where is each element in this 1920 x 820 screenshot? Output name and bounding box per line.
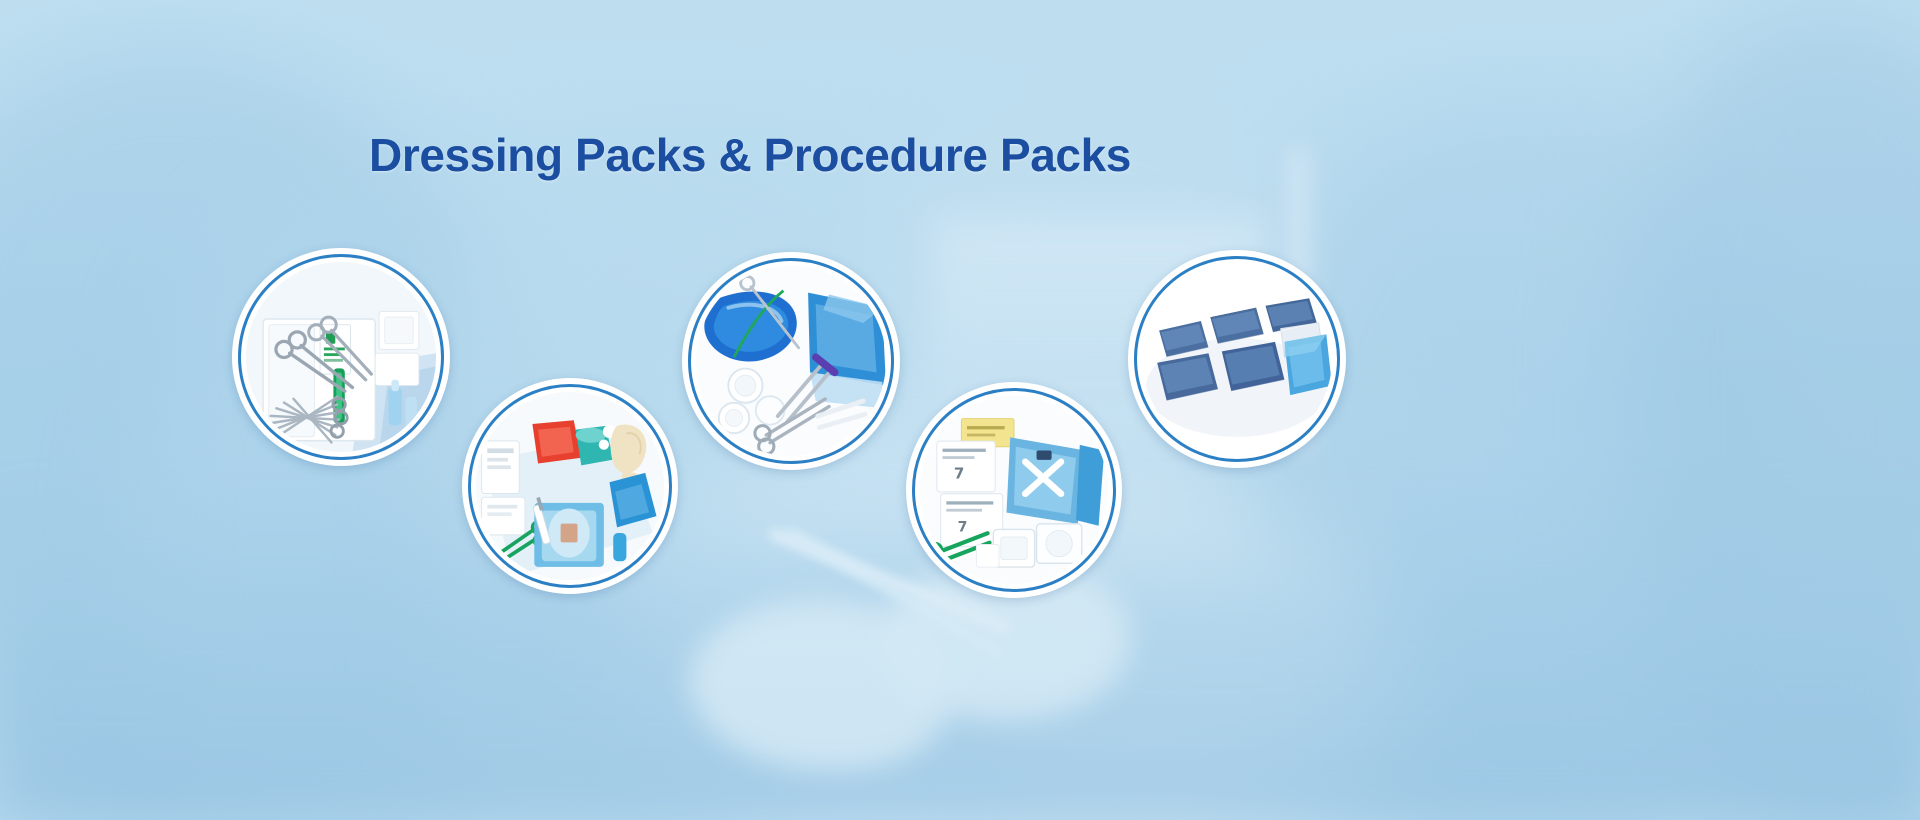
product-thumb-labelled-procedure-pack[interactable]: 7 7 (906, 382, 1122, 598)
product-thumb-procedure-pack-with-drapes[interactable] (462, 378, 678, 594)
thumb-ring (468, 384, 672, 588)
product-image-1 (246, 262, 436, 452)
thumb-ring (1134, 256, 1340, 462)
page-title: Dressing Packs & Procedure Packs (0, 128, 1500, 182)
product-thumb-kidney-dish-catheter-pack[interactable] (682, 252, 900, 470)
thumb-ring (238, 254, 444, 460)
svg-text:7: 7 (954, 465, 964, 483)
thumb-ring (688, 258, 894, 464)
product-image-2 (476, 392, 664, 580)
product-image-4: 7 7 (920, 396, 1108, 584)
product-image-5 (1142, 264, 1332, 454)
product-banner: Dressing Packs & Procedure Packs (0, 0, 1920, 820)
thumb-ring: 7 7 (912, 388, 1116, 592)
product-image-3 (696, 266, 886, 456)
product-thumb-surgical-instrument-dressing-pack[interactable] (232, 248, 450, 466)
product-thumb-folded-surgical-drapes[interactable] (1128, 250, 1346, 468)
svg-text:7: 7 (958, 519, 968, 535)
